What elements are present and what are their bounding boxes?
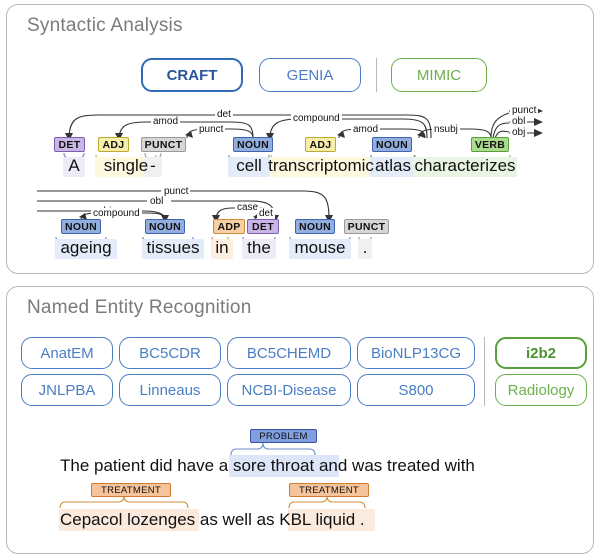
entity-badge-treatment-2: TREATMENT (289, 483, 369, 497)
word-tissues: tissues (138, 238, 208, 258)
ner-sentence-line2: Cepacol lozenges as well as KBL liquid . (60, 510, 365, 530)
named-entity-recognition-card: Named Entity Recognition AnatEM BC5CDR B… (6, 286, 594, 554)
word-mouse: mouse (285, 238, 355, 258)
ner-line2-entity2: KBL liquid (279, 510, 355, 529)
syntactic-analysis-card: Syntactic Analysis CRAFT GENIA MIMIC (6, 4, 594, 274)
ner-line2-entity1: Cepacol lozenges (60, 510, 195, 529)
word-period: . (353, 238, 377, 258)
entity-badge-treatment-1: TREATMENT (91, 483, 171, 497)
ner-line2-suffix: . (355, 510, 364, 529)
word-in: in (207, 238, 237, 258)
word-the: the (238, 238, 280, 258)
word-ageing: ageing (51, 238, 121, 258)
token-braces-row2 (7, 5, 600, 275)
ner-line2-middle: as well as (195, 510, 279, 529)
